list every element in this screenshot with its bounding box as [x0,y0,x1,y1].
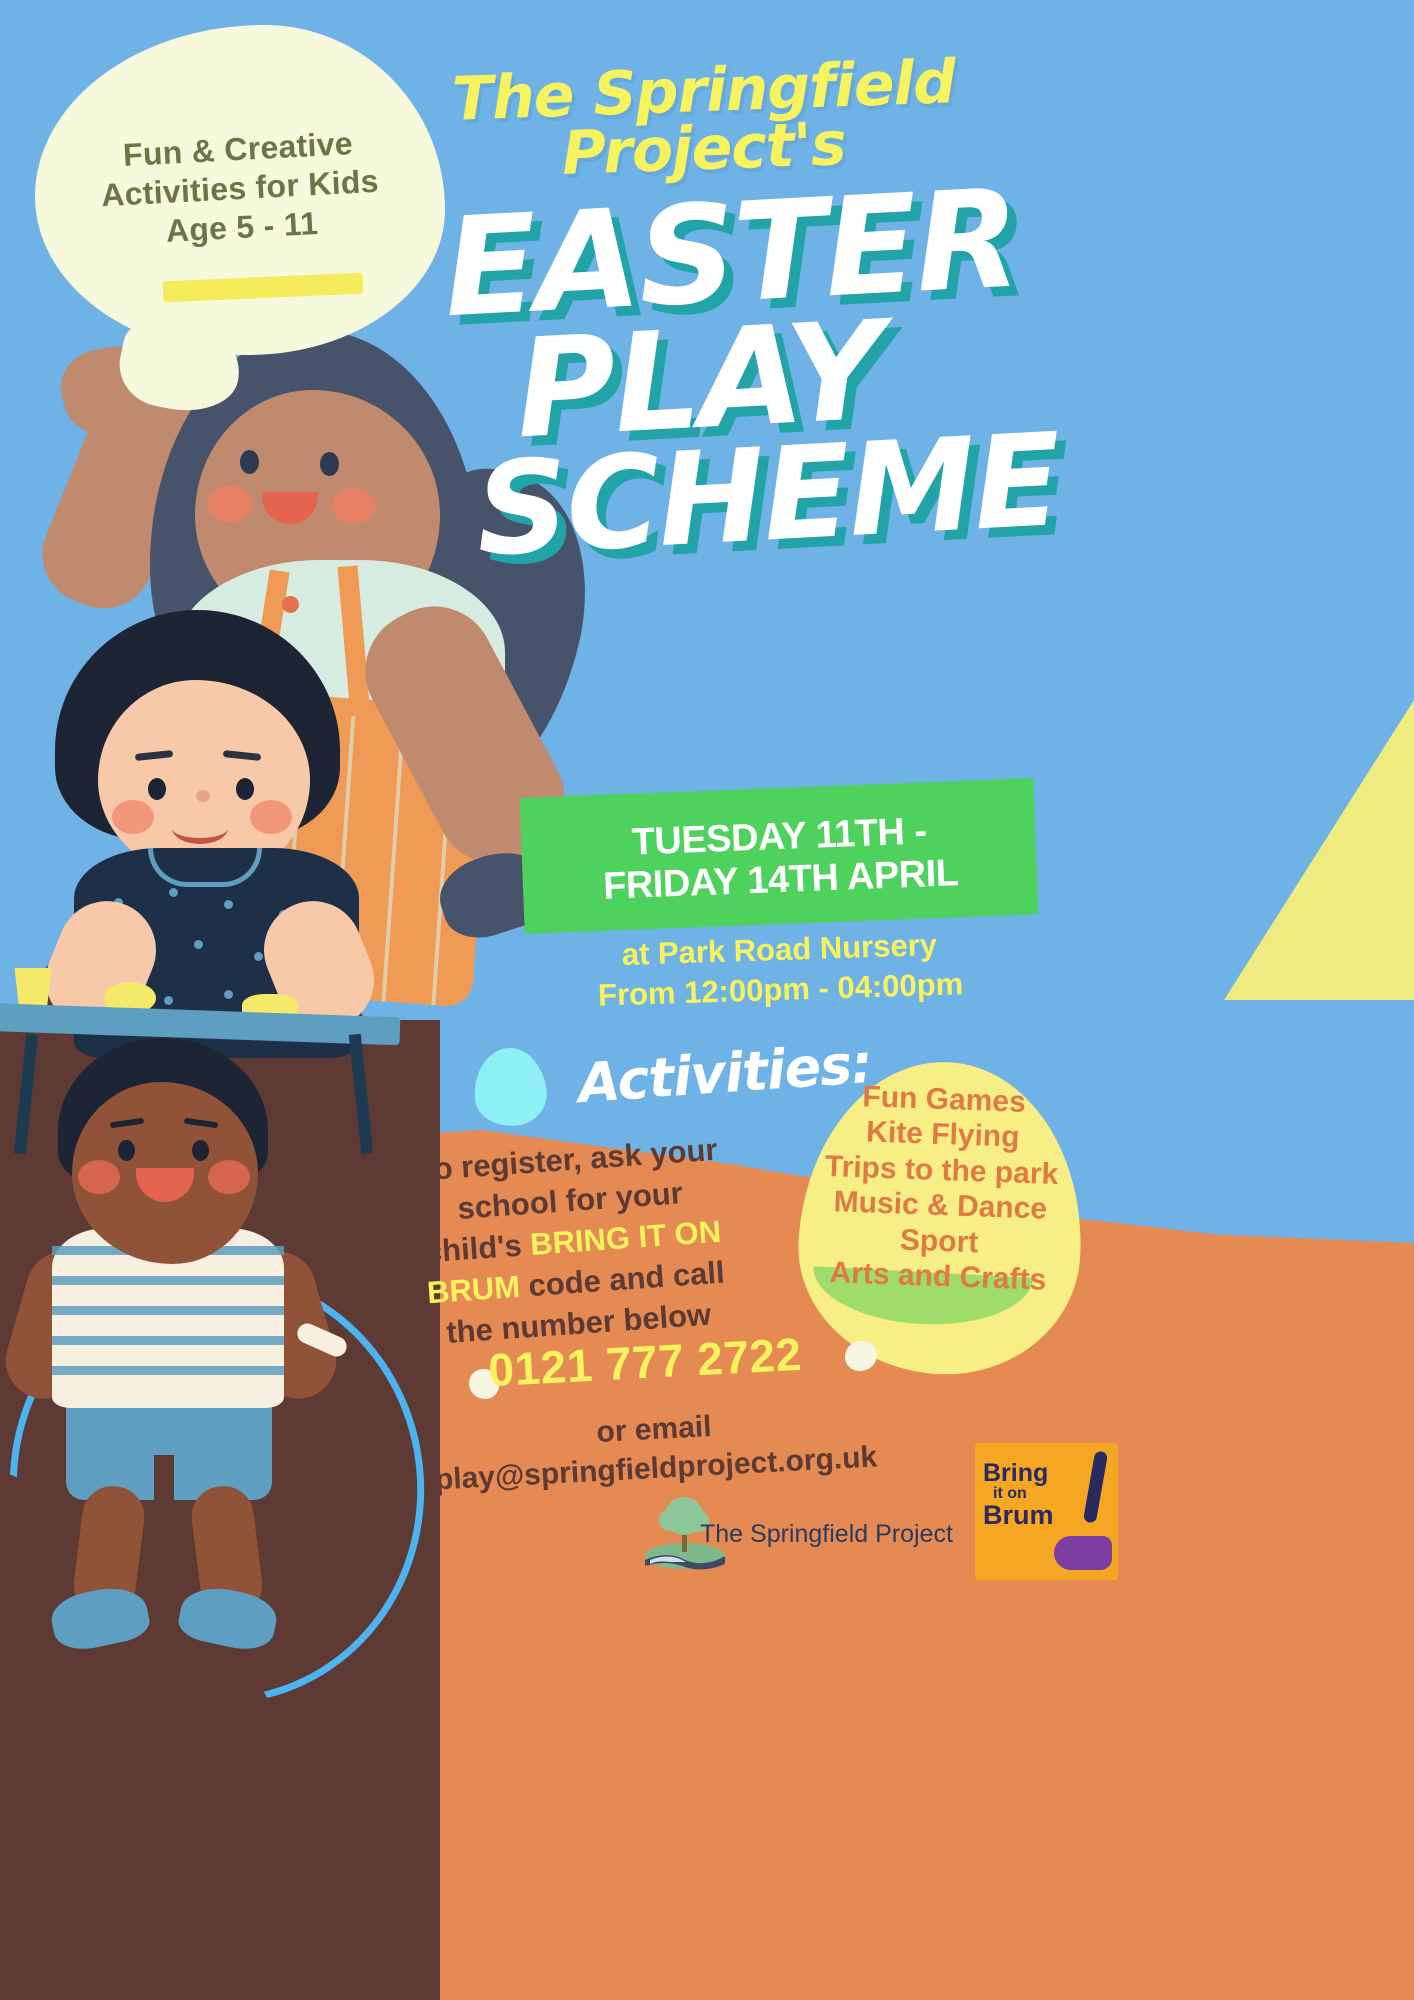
organisation-brand-title: The Springfield Project's [452,62,1012,177]
adult-eye-left [240,450,259,474]
child-two-shorts-split [154,1455,174,1501]
brum-logo-stroke [1083,1450,1108,1523]
title-line-scheme: SCHEME [474,425,1073,566]
bring-it-on-brum-logo: Bring it on Brum [975,1443,1118,1580]
child-one-eye-right [236,778,254,800]
child-one-cheek-right [250,800,292,834]
child-one-eye-left [148,778,166,800]
activities-list: Fun Games Kite Flying Trips to the park … [796,1077,1085,1299]
child-one-smile [172,812,228,844]
brum-logo-shoe-icon [1054,1536,1112,1570]
registration-instructions: To register, ask your school for your ch… [401,1129,744,1356]
child-two-eye-left [118,1140,135,1161]
speech-bubble-text: Fun & Creative Activities for Kids Age 5… [57,121,423,257]
date-banner-text: TUESDAY 11TH - FRIDAY 14TH APRIL [526,790,1034,927]
child-two-cheek-right [208,1160,250,1194]
adult-button [282,596,299,613]
brum-logo-text: Bring it on Brum [983,1461,1054,1529]
child-one-nose [196,790,210,802]
brum-line-3: Brum [983,1502,1054,1529]
springfield-project-name: The Springfield Project [700,1520,953,1549]
brum-line-1: Bring [983,1461,1054,1486]
child-two-cheek-left [78,1160,120,1194]
adult-eye-right [320,452,339,476]
bubble-line-3: Age 5 - 11 [165,205,319,249]
easter-play-scheme-poster: Fun & Creative Activities for Kids Age 5… [0,0,1414,2000]
child-two-eye-right [192,1140,209,1161]
venue-and-time: at Park Road Nursery From 12:00pm - 04:0… [519,922,1041,1019]
child-one-cheek-left [112,800,154,834]
adult-cheek-right [332,488,376,524]
adult-cheek-left [208,486,252,522]
page-title: EASTER PLAY SCHEME [430,195,1070,551]
